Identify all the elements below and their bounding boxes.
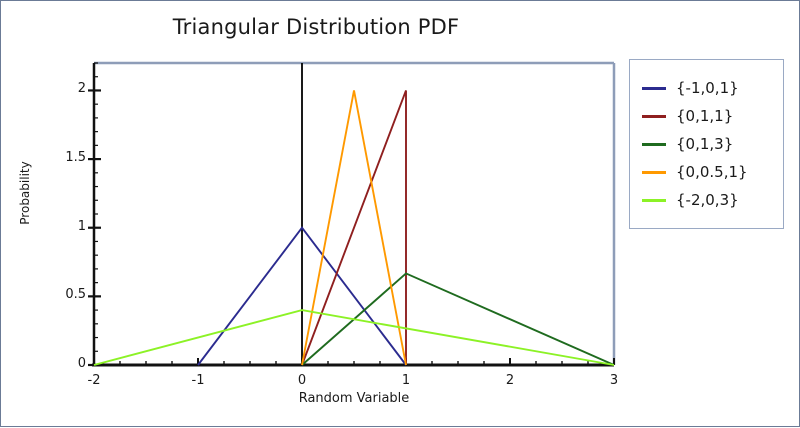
x-axis-label: Random Variable — [94, 391, 614, 406]
series-line-1[interactable] — [302, 90, 406, 365]
legend-swatch-icon — [642, 171, 666, 174]
legend-item[interactable]: {0,1,3} — [642, 130, 773, 158]
series-line-4[interactable] — [94, 310, 614, 365]
legend-item[interactable]: {-1,0,1} — [642, 74, 773, 102]
y-tick-label: 1 — [46, 219, 86, 234]
y-tick-label: 1.5 — [46, 150, 86, 165]
x-tick-label: 2 — [490, 373, 530, 388]
chart-legend: {-1,0,1}{0,1,1}{0,1,3}{0,0.5,1}{-2,0,3} — [629, 59, 784, 229]
legend-label: {-1,0,1} — [676, 79, 739, 97]
legend-label: {0,1,1} — [676, 107, 733, 125]
y-axis-label: Probability — [18, 148, 32, 238]
legend-swatch-icon — [642, 143, 666, 146]
legend-label: {-2,0,3} — [676, 191, 739, 209]
legend-swatch-icon — [642, 115, 666, 118]
x-tick-label: -1 — [178, 373, 218, 388]
x-tick-label: -2 — [74, 373, 114, 388]
legend-item[interactable]: {0,1,1} — [642, 102, 773, 130]
y-tick-label: 0 — [46, 356, 86, 371]
y-tick-label: 0.5 — [46, 287, 86, 302]
x-tick-label: 1 — [386, 373, 426, 388]
legend-item[interactable]: {0,0.5,1} — [642, 158, 773, 186]
y-tick-label: 2 — [46, 81, 86, 96]
x-tick-label: 0 — [282, 373, 322, 388]
legend-label: {0,0.5,1} — [676, 163, 748, 181]
legend-swatch-icon — [642, 87, 666, 90]
legend-swatch-icon — [642, 199, 666, 202]
legend-item[interactable]: {-2,0,3} — [642, 186, 773, 214]
x-tick-label: 3 — [594, 373, 634, 388]
legend-label: {0,1,3} — [676, 135, 733, 153]
chart-figure: Triangular Distribution PDF Probability … — [0, 0, 800, 427]
